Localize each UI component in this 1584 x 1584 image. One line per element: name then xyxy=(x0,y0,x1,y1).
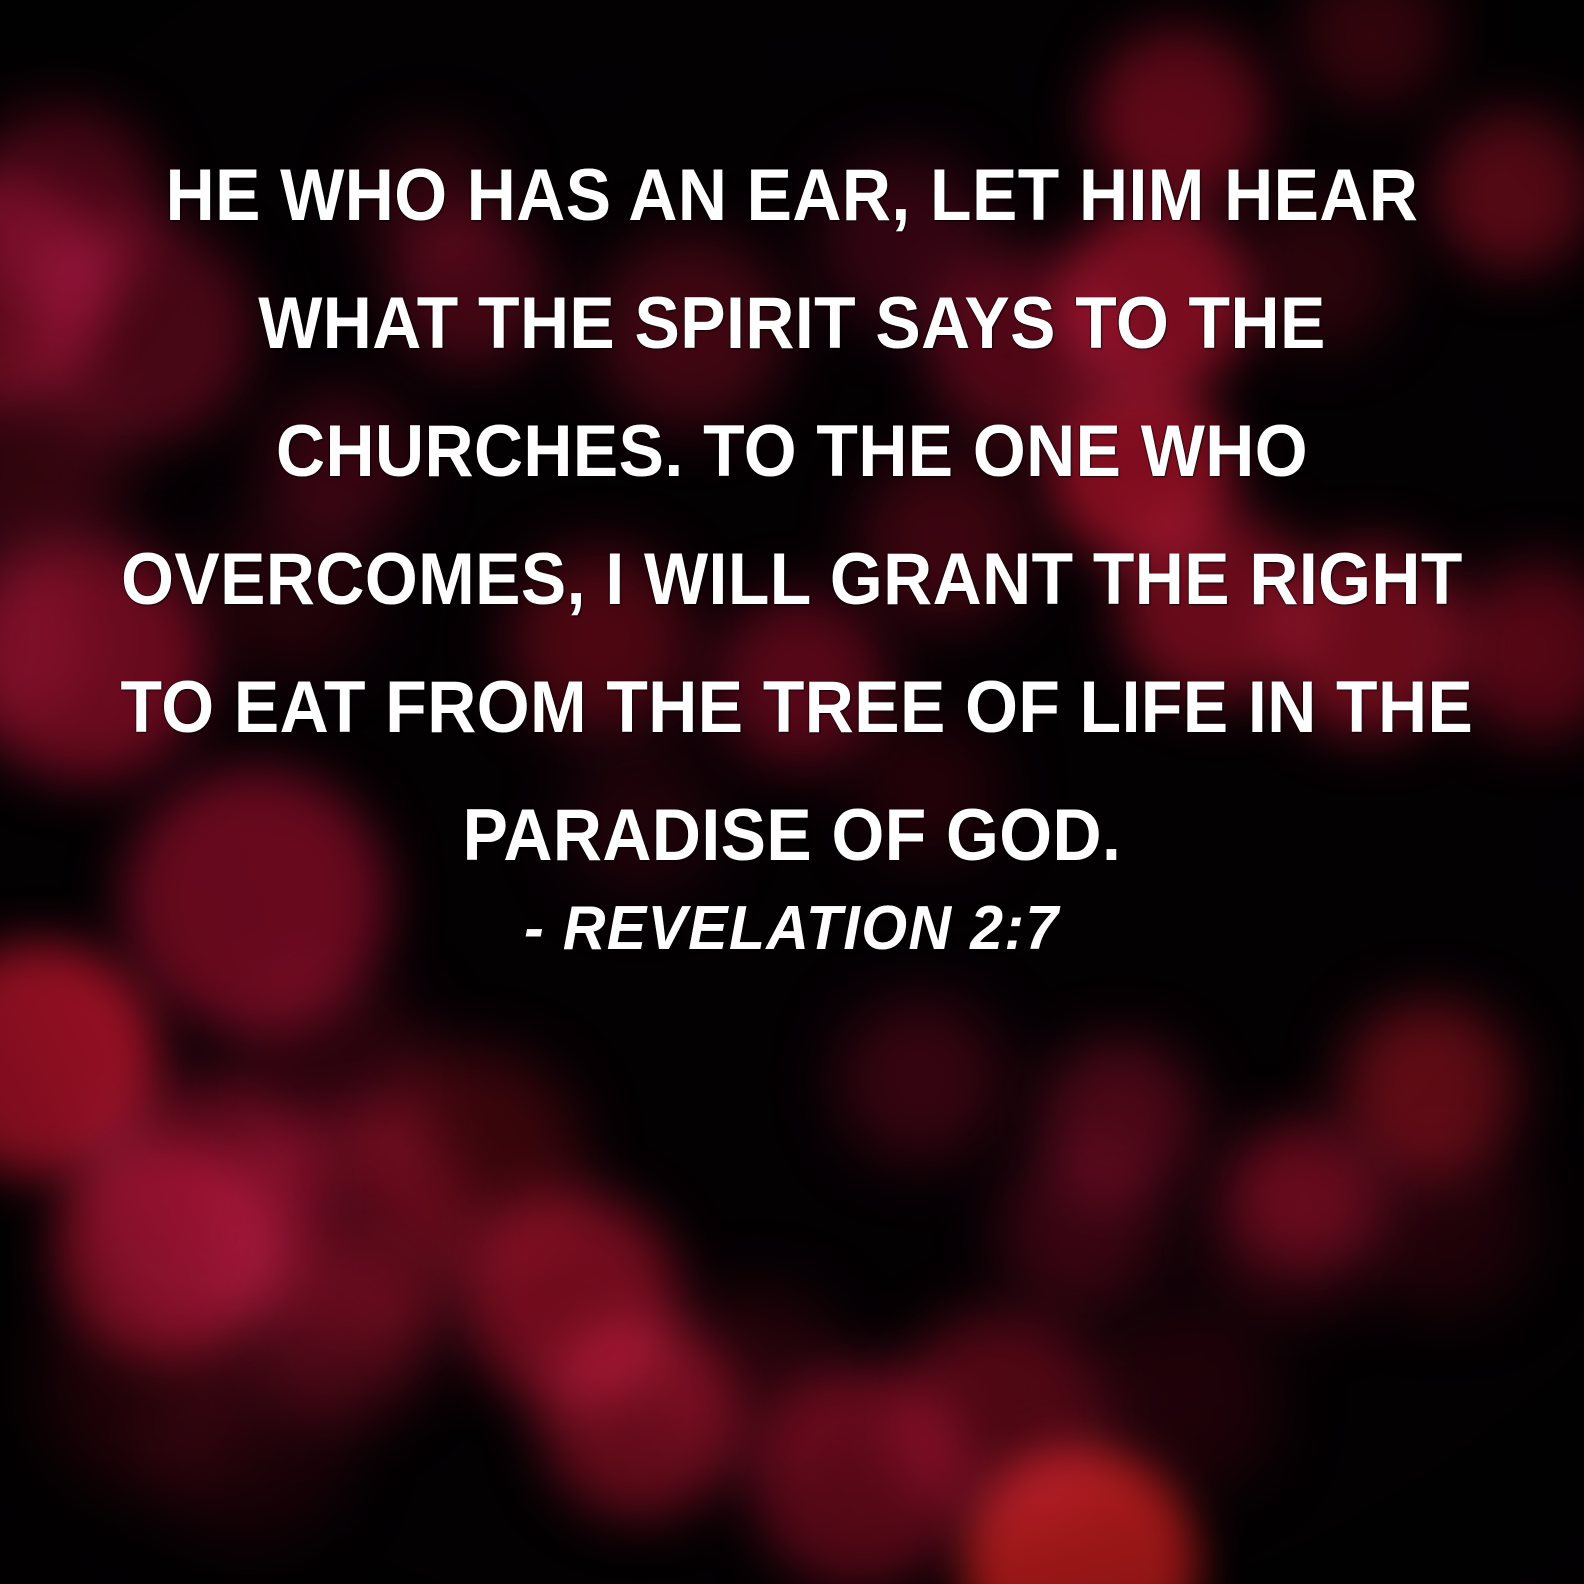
verse-line: TO EAT FROM THE TREE OF LIFE IN THE xyxy=(121,644,1464,772)
verse-line: WHAT THE SPIRIT SAYS TO THE xyxy=(121,260,1464,388)
verse-line: CHURCHES. TO THE ONE WHO xyxy=(121,388,1464,516)
bible-verse-image: HE WHO HAS AN EAR, LET HIM HEAR WHAT THE… xyxy=(0,0,1584,1584)
bokeh-circle xyxy=(141,1336,349,1544)
verse-line: OVERCOMES, I WILL GRANT THE RIGHT xyxy=(121,516,1464,644)
attribution-text: - REVELATION 2:7 xyxy=(524,893,1060,965)
bokeh-circle xyxy=(1093,1313,1277,1497)
bokeh-circle xyxy=(892,1312,1108,1528)
bokeh-circle xyxy=(1040,1040,1200,1200)
bokeh-circle xyxy=(1231,1121,1379,1269)
verse-line: HE WHO HAS AN EAR, LET HIM HEAR xyxy=(121,132,1464,260)
verse-line: PARADISE OF GOD. xyxy=(121,772,1464,900)
bokeh-circle xyxy=(838,998,1002,1162)
verse-text-block: HE WHO HAS AN EAR, LET HIM HEAR WHAT THE… xyxy=(0,132,1584,900)
verse-attribution: - REVELATION 2:7 xyxy=(0,893,1584,965)
bokeh-circle xyxy=(1357,1137,1533,1313)
bokeh-circle xyxy=(1301,0,1449,104)
